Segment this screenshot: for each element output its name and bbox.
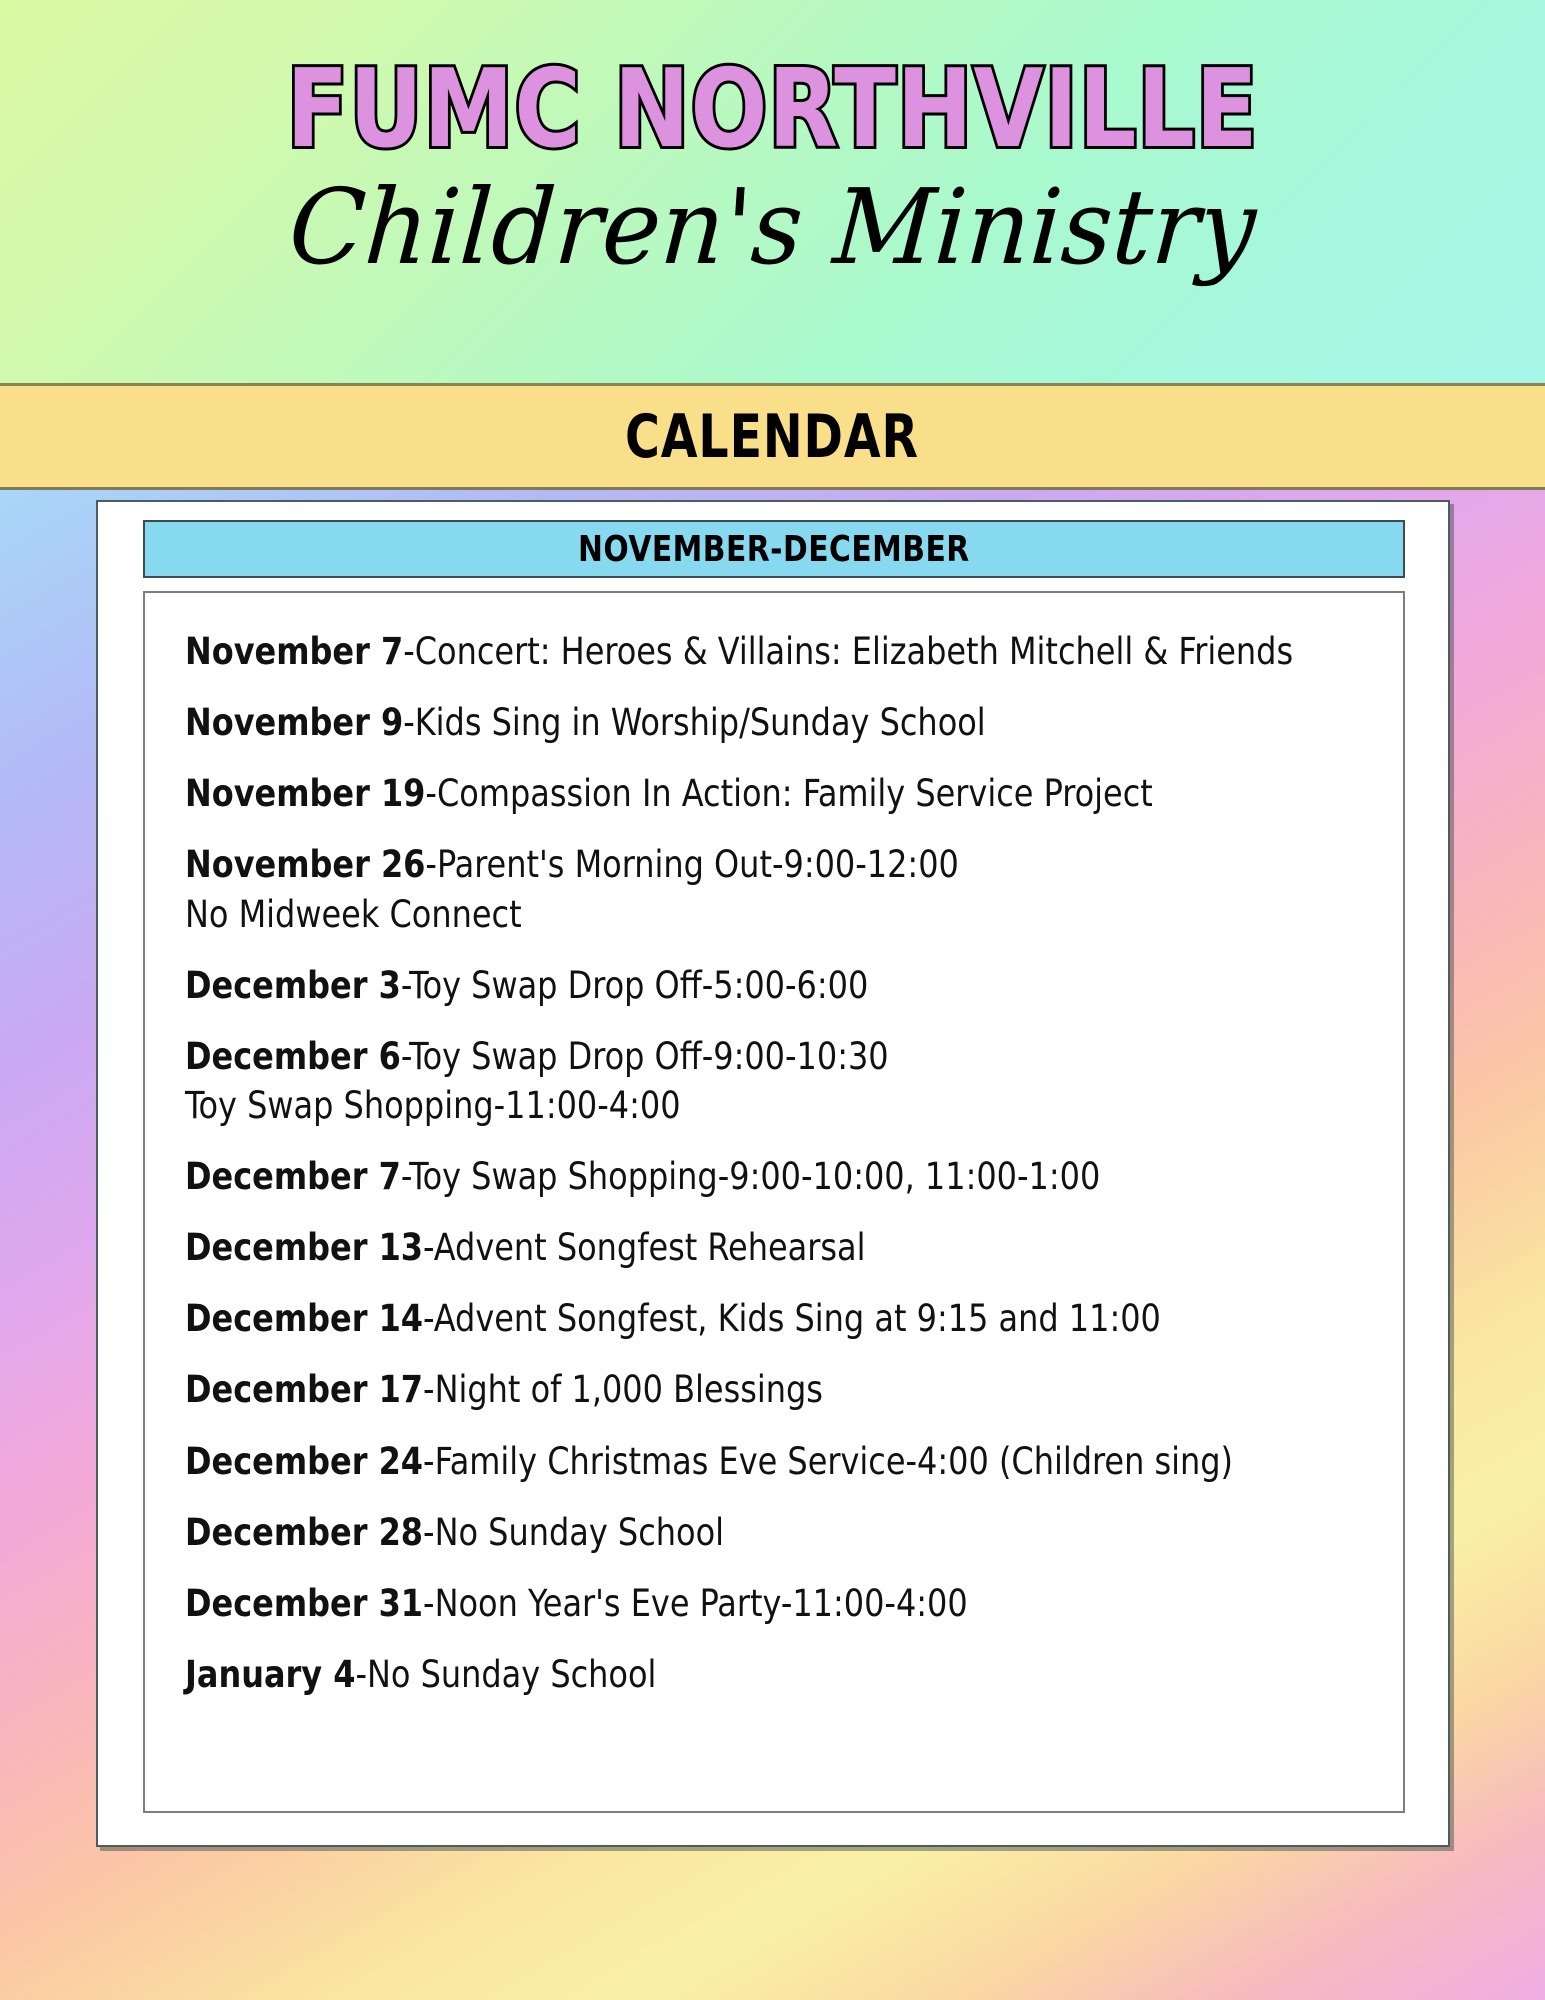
event-date: December 14 bbox=[185, 1297, 423, 1340]
event-description: -Toy Swap Drop Off-9:00-10:30 bbox=[401, 1035, 889, 1078]
event-item: December 14-Advent Songfest, Kids Sing a… bbox=[185, 1296, 1318, 1341]
event-date: November 26 bbox=[185, 843, 425, 886]
flyer-header: FUMC NORTHVILLE Children's Ministry bbox=[0, 0, 1545, 383]
ministry-subtitle: Children's Ministry bbox=[35, 168, 1511, 288]
event-item: November 19-Compassion In Action: Family… bbox=[185, 771, 1318, 816]
event-description: -Concert: Heroes & Villains: Elizabeth M… bbox=[403, 630, 1293, 673]
event-date: December 3 bbox=[185, 964, 401, 1007]
event-description: -Advent Songfest, Kids Sing at 9:15 and … bbox=[423, 1297, 1161, 1340]
event-date: November 7 bbox=[185, 630, 403, 673]
event-item: November 9-Kids Sing in Worship/Sunday S… bbox=[185, 700, 1318, 745]
event-description: -Compassion In Action: Family Service Pr… bbox=[425, 772, 1152, 815]
event-item: December 3-Toy Swap Drop Off-5:00-6:00 bbox=[185, 963, 1318, 1008]
event-item: December 28-No Sunday School bbox=[185, 1510, 1318, 1555]
event-description: -Parent's Morning Out-9:00-12:00 bbox=[425, 843, 958, 886]
event-date: December 31 bbox=[185, 1582, 423, 1625]
event-item: December 13-Advent Songfest Rehearsal bbox=[185, 1225, 1318, 1270]
page-title: FUMC NORTHVILLE bbox=[54, 56, 1491, 164]
event-date: December 6 bbox=[185, 1035, 401, 1078]
event-date: December 24 bbox=[185, 1440, 423, 1483]
event-date: December 17 bbox=[185, 1368, 423, 1411]
event-date: November 9 bbox=[185, 701, 403, 744]
event-description: -Toy Swap Shopping-9:00-10:00, 11:00-1:0… bbox=[401, 1155, 1100, 1198]
event-description: -No Sunday School bbox=[423, 1511, 724, 1554]
event-date: December 13 bbox=[185, 1226, 423, 1269]
event-date: November 19 bbox=[185, 772, 425, 815]
event-date: December 28 bbox=[185, 1511, 423, 1554]
events-list: November 7-Concert: Heroes & Villains: E… bbox=[143, 591, 1405, 1813]
event-item: January 4-No Sunday School bbox=[185, 1652, 1318, 1697]
event-description: -Advent Songfest Rehearsal bbox=[423, 1226, 865, 1269]
event-item: November 26-Parent's Morning Out-9:00-12… bbox=[185, 842, 1318, 936]
month-range-label: NOVEMBER-DECEMBER bbox=[578, 529, 970, 570]
event-date: December 7 bbox=[185, 1155, 401, 1198]
event-item: December 24-Family Christmas Eve Service… bbox=[185, 1439, 1318, 1484]
calendar-band-label: CALENDAR bbox=[626, 402, 920, 472]
event-item: December 7-Toy Swap Shopping-9:00-10:00,… bbox=[185, 1154, 1318, 1199]
event-item: December 31-Noon Year's Eve Party-11:00-… bbox=[185, 1581, 1318, 1626]
event-description: -No Sunday School bbox=[355, 1653, 656, 1696]
event-item: December 17-Night of 1,000 Blessings bbox=[185, 1367, 1318, 1412]
event-description: -Night of 1,000 Blessings bbox=[423, 1368, 823, 1411]
flyer-page: FUMC NORTHVILLE Children's Ministry CALE… bbox=[0, 0, 1545, 2000]
event-description: -Kids Sing in Worship/Sunday School bbox=[403, 701, 985, 744]
calendar-band: CALENDAR bbox=[0, 383, 1545, 490]
event-description: -Toy Swap Drop Off-5:00-6:00 bbox=[401, 964, 868, 1007]
month-range-banner: NOVEMBER-DECEMBER bbox=[143, 520, 1405, 578]
event-continuation: No Midweek Connect bbox=[185, 892, 1318, 937]
event-item: December 6-Toy Swap Drop Off-9:00-10:30T… bbox=[185, 1034, 1318, 1128]
event-date: January 4 bbox=[185, 1653, 355, 1696]
event-item: November 7-Concert: Heroes & Villains: E… bbox=[185, 629, 1318, 674]
event-description: -Noon Year's Eve Party-11:00-4:00 bbox=[423, 1582, 968, 1625]
event-description: -Family Christmas Eve Service-4:00 (Chil… bbox=[423, 1440, 1233, 1483]
calendar-card: NOVEMBER-DECEMBER November 7-Concert: He… bbox=[96, 500, 1450, 1847]
event-continuation: Toy Swap Shopping-11:00-4:00 bbox=[185, 1083, 1318, 1128]
